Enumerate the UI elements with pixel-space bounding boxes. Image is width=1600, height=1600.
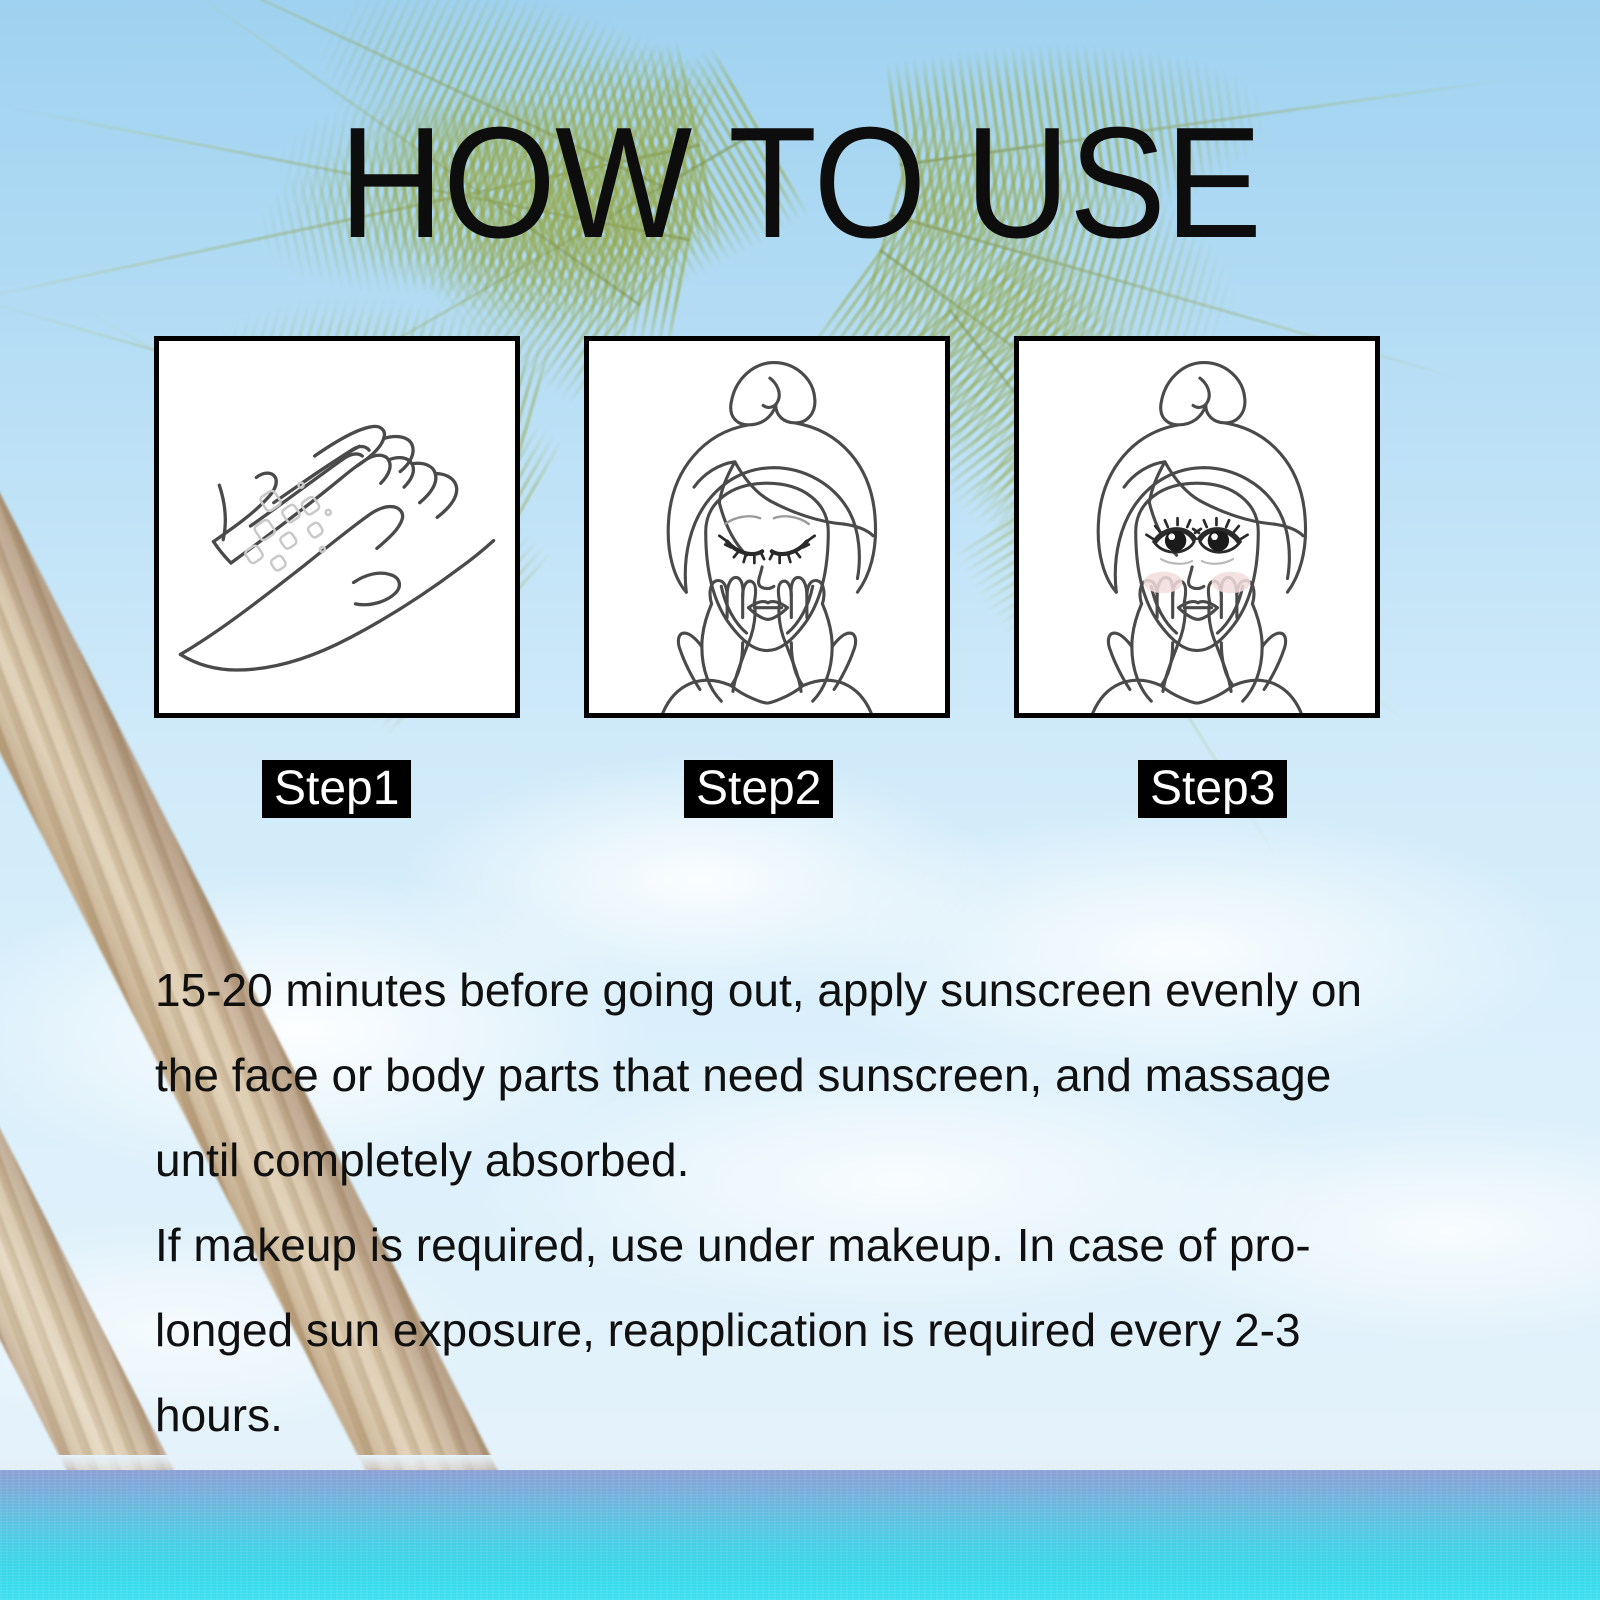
step-card-2[interactable]	[584, 336, 950, 718]
woman-face-eyes-closed-icon	[589, 341, 945, 713]
step-card-1[interactable]	[154, 336, 520, 718]
poster-canvas: HOW TO USE	[0, 0, 1600, 1600]
woman-face-eyes-open-icon	[1019, 341, 1375, 713]
instructions-paragraph-2: If makeup is required, use under makeup.…	[155, 1203, 1405, 1458]
page-title: HOW TO USE	[64, 104, 1536, 262]
step-label-1: Step1	[262, 760, 411, 818]
instructions-paragraph-1: 15-20 minutes before going out, apply su…	[155, 948, 1405, 1203]
ocean-band	[0, 1470, 1600, 1600]
step-label-2: Step2	[684, 760, 833, 818]
step-label-3: Step3	[1138, 760, 1287, 818]
step-labels: Step1 Step2 Step3	[154, 760, 1380, 818]
step-card-3[interactable]	[1014, 336, 1380, 718]
step-cards	[154, 336, 1380, 718]
two-hands-rubbing-icon	[159, 341, 515, 713]
instructions-block: 15-20 minutes before going out, apply su…	[155, 948, 1405, 1458]
